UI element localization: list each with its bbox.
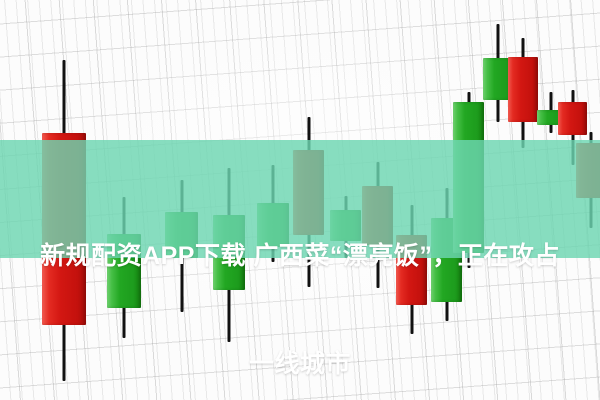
candlestick (508, 38, 538, 148)
candlestick-banner-image: 新规配资APP下载 广西菜“漂亮饭”，正在攻占 一线城市 (0, 0, 600, 400)
candlestick-body-down (558, 102, 587, 135)
headline-line-2: 一线城市 (0, 346, 600, 382)
candlestick-body-down (508, 57, 538, 122)
headline-line-1: 新规配资APP下载 广西菜“漂亮饭”，正在攻占 (0, 238, 600, 274)
headline-text: 新规配资APP下载 广西菜“漂亮饭”，正在攻占 一线城市 (0, 166, 600, 400)
